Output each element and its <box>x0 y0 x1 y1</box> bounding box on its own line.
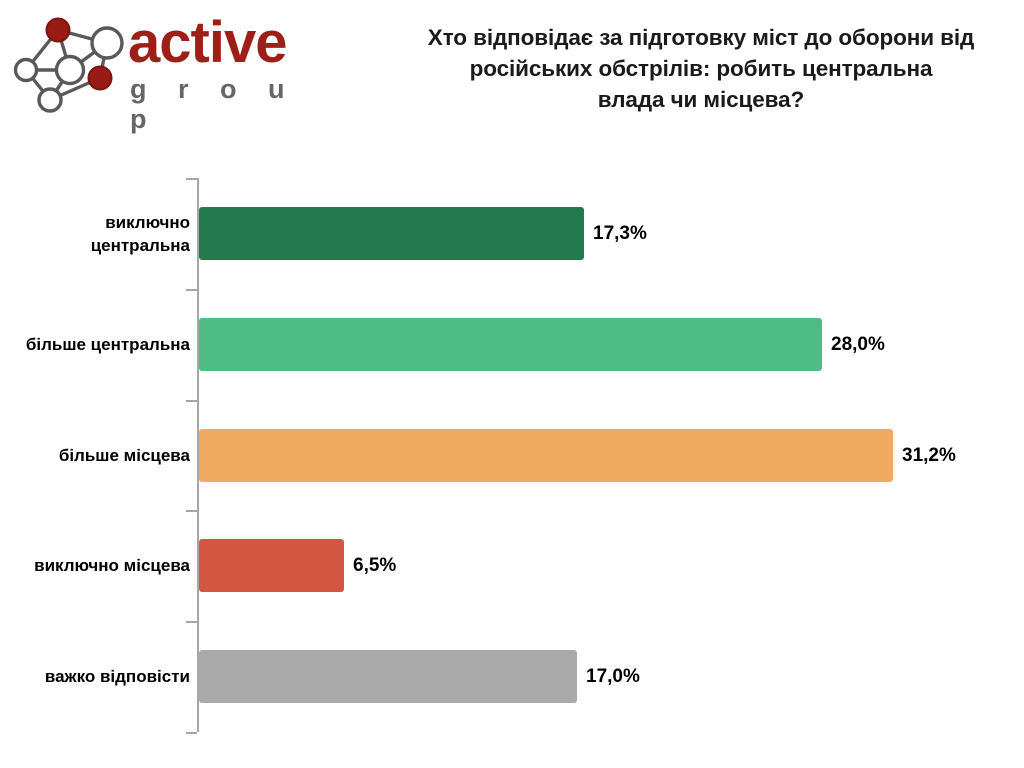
bar-value-label: 28,0% <box>831 334 885 356</box>
bar[interactable] <box>199 318 822 371</box>
bar[interactable] <box>199 429 893 482</box>
bar-value-label: 6,5% <box>353 555 396 577</box>
bar-category-label-line: виключно <box>0 211 190 234</box>
axis-tick <box>186 732 197 734</box>
bar-category-label: більше центральна <box>0 333 190 356</box>
bar-value-label: 31,2% <box>902 445 956 467</box>
bar-category-label: більше місцева <box>0 444 190 467</box>
bar[interactable] <box>199 207 584 260</box>
axis-tick <box>186 178 197 180</box>
bar[interactable] <box>199 650 577 703</box>
axis-tick <box>186 621 197 623</box>
axis-tick <box>186 400 197 402</box>
bar-chart-plot: виключноцентральна17,3%більше центральна… <box>0 0 1024 768</box>
bar-category-label-line: центральна <box>0 234 190 257</box>
bar-category-label: виключноцентральна <box>0 211 190 257</box>
bar[interactable] <box>199 539 344 592</box>
bar-category-label: виключно місцева <box>0 554 190 577</box>
bar-category-label: важко відповісти <box>0 665 190 688</box>
bar-value-label: 17,3% <box>593 223 647 245</box>
axis-tick <box>186 510 197 512</box>
bar-value-label: 17,0% <box>586 666 640 688</box>
axis-tick <box>186 289 197 291</box>
